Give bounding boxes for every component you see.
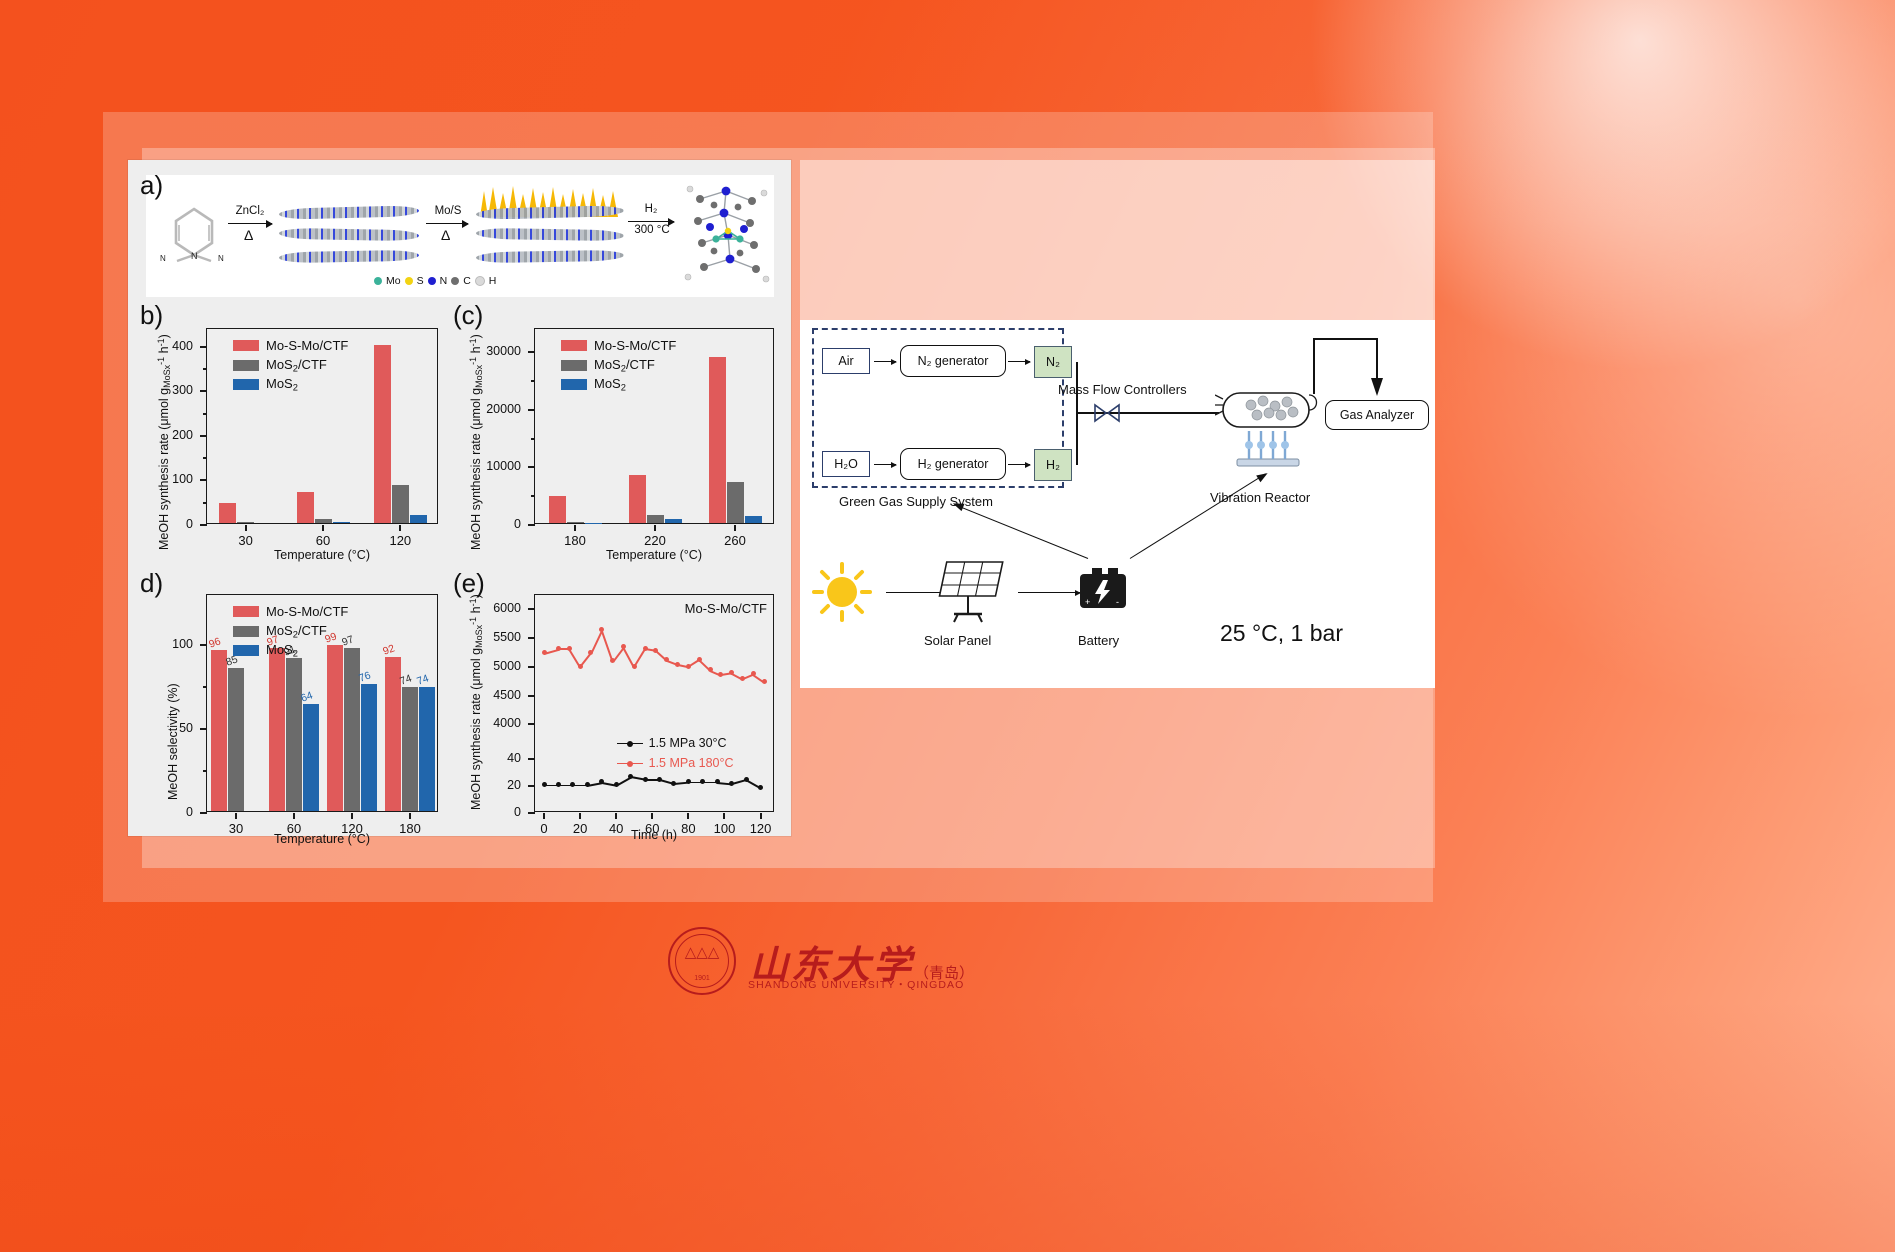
panel-d-xlabel: Temperature (°C): [206, 832, 438, 846]
x-tick: [409, 813, 411, 819]
y-tick: [528, 695, 535, 697]
node-n2-product: N₂: [1034, 346, 1072, 378]
panel-c-letter: (c): [453, 300, 483, 331]
bar-value-label: 76: [357, 669, 372, 684]
bar: [402, 687, 418, 811]
y-tick: [200, 728, 207, 730]
legend-label: MoS2: [266, 376, 298, 392]
x-tick: [687, 813, 689, 819]
y-tick-label: 6000: [461, 601, 521, 615]
svg-text:+: +: [1085, 597, 1090, 607]
legend-item: Mo-S-Mo/CTF: [233, 338, 348, 353]
step1-condition: Δ: [244, 227, 253, 243]
panel-e-plot: 4000450050005500600002040020406080100120…: [534, 594, 774, 812]
y-tick-label: 200: [133, 428, 193, 442]
x-tick: [543, 813, 545, 819]
sun-icon: [810, 560, 874, 624]
panel-c-plot: 0100002000030000180220260Mo-S-Mo/CTFMoS2…: [534, 328, 774, 524]
y-tick: [200, 812, 207, 814]
mo-dot: [374, 277, 382, 285]
bar: [211, 650, 227, 811]
ctf-sheets-2: [476, 185, 624, 267]
x-tick: [293, 813, 295, 819]
x-tick: [399, 525, 401, 531]
svg-text:N: N: [191, 251, 198, 261]
y-tick: [528, 723, 535, 725]
s-label: S: [417, 275, 424, 287]
panel-a-scheme: N N N ZnCl₂ Δ Mo/S Δ: [146, 175, 774, 297]
arrow-battery-to-gas-supply: [954, 504, 1088, 559]
group-label-green-gas: Green Gas Supply System: [839, 494, 993, 509]
node-air: Air: [822, 348, 870, 374]
legend-item: 1.5 MPa 30°C: [617, 736, 727, 750]
y-tick-label: 0: [461, 517, 521, 531]
legend-item: Mo-S-Mo/CTF: [233, 604, 348, 619]
legend-item: MoS2/CTF: [233, 623, 327, 639]
line-segment: [634, 649, 646, 668]
logo-seal: △△△ 1901: [668, 927, 736, 995]
y-tick-label: 20000: [461, 402, 521, 416]
bar: [327, 645, 343, 811]
legend-item: Mo-S-Mo/CTF: [561, 338, 676, 353]
y-tick-label: 0: [461, 805, 521, 819]
legend-label: 1.5 MPa 180°C: [649, 756, 734, 770]
legend-swatch: [233, 340, 259, 351]
step3-reagent: H₂: [631, 203, 671, 215]
h-label: H: [489, 275, 497, 287]
y-tick: [528, 608, 535, 610]
vibration-reactor-icon: [1215, 375, 1327, 485]
cluster-structure: [680, 181, 772, 285]
h-dot: [475, 276, 485, 286]
y-tick-label: 5000: [461, 659, 521, 673]
node-h2-generator: H₂ generator: [900, 448, 1006, 480]
y-minor-tick: [531, 380, 535, 382]
legend-item: 1.5 MPa 180°C: [617, 756, 734, 770]
step2-reagent: Mo/S: [426, 205, 470, 217]
x-tick: [574, 525, 576, 531]
n-dot: [428, 277, 436, 285]
y-tick: [528, 666, 535, 668]
mo-label: Mo: [386, 275, 401, 287]
y-tick: [200, 644, 207, 646]
y-tick: [528, 637, 535, 639]
y-tick: [200, 390, 207, 392]
legend-label: MoS2: [594, 376, 626, 392]
x-tick-label: 260: [705, 533, 765, 548]
legend-swatch: [233, 645, 259, 656]
svg-text:-: -: [1116, 597, 1119, 607]
bar: [297, 492, 314, 523]
bar: [629, 475, 646, 523]
y-tick: [200, 524, 207, 526]
solar-panel-icon: [930, 556, 1010, 628]
bar: [219, 503, 236, 523]
x-tick-label: 30: [216, 533, 276, 548]
x-tick: [734, 525, 736, 531]
analyzer-drop: [1376, 338, 1378, 382]
y-tick-label: 40: [461, 751, 521, 765]
bar: [228, 668, 244, 811]
legend-label: Mo-S-Mo/CTF: [594, 338, 676, 353]
y-minor-tick: [531, 438, 535, 440]
battery-label: Battery: [1078, 633, 1119, 648]
y-minor-tick: [203, 502, 207, 504]
legend-item: MoS2: [233, 376, 298, 392]
bar: [333, 522, 350, 523]
arrow-panel-to-battery: [1018, 592, 1080, 593]
x-tick: [615, 813, 617, 819]
bar: [269, 648, 285, 811]
legend-label: MoS2/CTF: [594, 357, 655, 373]
y-minor-tick: [203, 770, 207, 772]
step1-arrow: [228, 223, 272, 224]
seal-glyph: △△△: [670, 945, 734, 960]
legend-swatch: [233, 626, 259, 637]
x-tick: [723, 813, 725, 819]
figure-card: N N N ZnCl₂ Δ Mo/S Δ: [128, 160, 791, 836]
data-point: [758, 785, 763, 790]
y-tick-label: 10000: [461, 459, 521, 473]
bar: [315, 519, 332, 523]
university-logo: △△△ 1901 山东大学（青岛） SHANDONG UNIVERSITY・QI…: [668, 925, 1228, 997]
y-tick: [200, 479, 207, 481]
y-tick-label: 50: [133, 721, 193, 735]
svg-text:N: N: [218, 254, 224, 263]
legend-line: [617, 743, 643, 744]
bar: [567, 522, 584, 523]
gas-analyzer-box: Gas Analyzer: [1325, 400, 1429, 430]
y-tick-label: 100: [133, 472, 193, 486]
y-tick-label: 20: [461, 778, 521, 792]
panel-e-annotation: Mo-S-Mo/CTF: [685, 601, 767, 616]
y-tick: [528, 812, 535, 814]
node-h2o: H₂O: [822, 451, 870, 477]
bar: [286, 658, 302, 811]
svg-text:N: N: [160, 254, 166, 263]
y-tick: [200, 435, 207, 437]
legend-swatch: [233, 606, 259, 617]
panel-e-xlabel: Time (h): [534, 828, 774, 842]
logo-english-name: SHANDONG UNIVERSITY・QINGDAO: [748, 977, 964, 992]
x-tick: [351, 813, 353, 819]
ctf-sheets-1: [279, 203, 419, 267]
bar-value-label: 74: [415, 672, 430, 687]
y-tick-label: 5500: [461, 630, 521, 644]
bar: [647, 515, 664, 523]
y-tick: [528, 524, 535, 526]
y-tick-label: 4500: [461, 688, 521, 702]
line-segment: [590, 630, 602, 654]
step1-reagent: ZnCl₂: [226, 205, 274, 217]
analyzer-arrowhead-icon: [1371, 378, 1383, 402]
legend-swatch: [233, 379, 259, 390]
bar: [549, 496, 566, 523]
arrow-h2gen-to-h2: [1008, 464, 1030, 465]
x-tick-label: 220: [625, 533, 685, 548]
x-tick-label: 60: [293, 533, 353, 548]
c-label: C: [463, 275, 471, 287]
x-tick: [654, 525, 656, 531]
process-diagram-card: Air N₂ generator N₂ H₂O H₂ generator H₂ …: [800, 320, 1435, 688]
x-tick: [322, 525, 324, 531]
n-label: N: [440, 275, 448, 287]
y-tick: [528, 409, 535, 411]
step2-arrow: [426, 223, 468, 224]
step3-arrow: [628, 221, 674, 222]
x-tick: [760, 813, 762, 819]
panel-b-plot: 01002003004003060120Mo-S-Mo/CTFMoS2/CTFM…: [206, 328, 438, 524]
x-tick: [245, 525, 247, 531]
legend-line: [617, 763, 643, 764]
bar-value-label: 92: [381, 642, 396, 657]
conditions-label: 25 °C, 1 bar: [1220, 620, 1343, 647]
panel-c-xlabel: Temperature (°C): [534, 548, 774, 562]
y-tick: [528, 351, 535, 353]
y-tick: [200, 346, 207, 348]
node-n2-generator: N₂ generator: [900, 345, 1006, 377]
bar: [237, 522, 254, 523]
x-tick-label: 120: [370, 533, 430, 548]
x-tick: [651, 813, 653, 819]
x-tick: [235, 813, 237, 819]
arrow-h2o-to-h2gen: [874, 464, 896, 465]
y-tick: [528, 785, 535, 787]
arrow-n2gen-to-n2: [1008, 361, 1030, 362]
step2-condition: Δ: [441, 227, 450, 243]
y-tick-label: 300: [133, 383, 193, 397]
legend-item: MoS2/CTF: [561, 357, 655, 373]
y-tick: [528, 466, 535, 468]
bar-value-label: 96: [207, 635, 222, 650]
legend-label: MoS2/CTF: [266, 623, 327, 639]
legend-label: MoS2/CTF: [266, 357, 327, 373]
bar-value-label: 64: [299, 689, 314, 704]
y-tick-label: 4000: [461, 716, 521, 730]
bar: [665, 519, 682, 523]
y-minor-tick: [203, 686, 207, 688]
bar: [392, 485, 409, 523]
legend-item: MoS2/CTF: [233, 357, 327, 373]
legend-label: Mo-S-Mo/CTF: [266, 604, 348, 619]
x-tick-label: 180: [545, 533, 605, 548]
mfc-valve-icon: [1094, 402, 1120, 424]
y-tick-label: 30000: [461, 344, 521, 358]
atom-legend: Mo S N C H: [374, 275, 496, 287]
arrow-air-to-n2gen: [874, 361, 896, 362]
data-point: [762, 679, 767, 684]
y-minor-tick: [203, 368, 207, 370]
c-dot: [451, 277, 459, 285]
node-h2-product: H₂: [1034, 449, 1072, 481]
bar: [709, 357, 726, 523]
bar: [745, 516, 762, 523]
y-tick-label: 0: [133, 517, 193, 531]
panel-a-letter: a): [140, 170, 163, 201]
legend-swatch: [561, 360, 587, 371]
y-tick: [528, 758, 535, 760]
legend-label: 1.5 MPa 30°C: [649, 736, 727, 750]
bar-value-label: 74: [398, 672, 413, 687]
s-dot: [405, 277, 413, 285]
reactor-to-analyzer-v1: [1313, 338, 1315, 394]
bar: [419, 687, 435, 811]
panel-d-ylabel: MeOH selectivity (%): [166, 683, 180, 800]
panel-b-letter: b): [140, 300, 163, 331]
legend-label: MoS2: [266, 642, 298, 658]
bar: [727, 482, 744, 523]
line-segment: [579, 653, 591, 668]
bar: [303, 704, 319, 811]
seal-year: 1901: [670, 975, 734, 982]
x-tick: [579, 813, 581, 819]
step3-condition: 300 °C: [629, 224, 675, 236]
legend-item: MoS2: [233, 642, 298, 658]
monomer-structure: N N N: [158, 201, 230, 263]
panel-b-xlabel: Temperature (°C): [206, 548, 438, 562]
mfc-label: Mass Flow Controllers: [1058, 382, 1187, 397]
legend-swatch: [561, 379, 587, 390]
line-segment: [601, 630, 613, 662]
legend-swatch: [561, 340, 587, 351]
y-tick-label: 100: [133, 637, 193, 651]
y-minor-tick: [531, 495, 535, 497]
y-tick-label: 0: [133, 805, 193, 819]
legend-item: MoS2: [561, 376, 626, 392]
y-minor-tick: [203, 413, 207, 415]
legend-swatch: [233, 360, 259, 371]
bar: [374, 345, 391, 523]
bar: [410, 515, 427, 523]
arrow-battery-to-reactor: [1130, 473, 1266, 559]
legend-label: Mo-S-Mo/CTF: [266, 338, 348, 353]
battery-icon: + -: [1076, 564, 1132, 618]
bar: [361, 684, 377, 811]
panel-d-plot: 05010096853097916460999776120927474180Mo…: [206, 594, 438, 812]
y-tick-label: 400: [133, 339, 193, 353]
y-minor-tick: [203, 457, 207, 459]
reactor-to-analyzer-h: [1313, 338, 1377, 340]
panel-d-letter: d): [140, 568, 163, 599]
solar-panel-label: Solar Panel: [924, 633, 991, 648]
